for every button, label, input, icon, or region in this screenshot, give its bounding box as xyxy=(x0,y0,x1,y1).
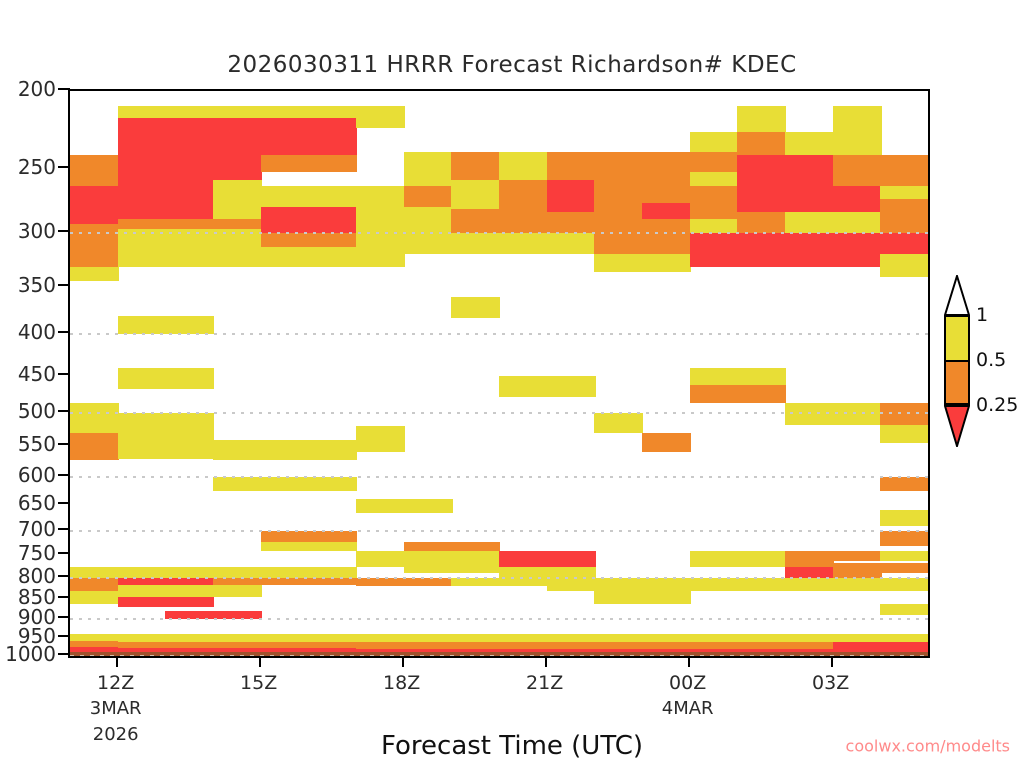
heatmap-cell xyxy=(118,316,167,334)
heatmap-cell xyxy=(118,118,167,219)
heatmap-cell xyxy=(690,368,739,385)
heatmap-cell xyxy=(118,585,167,597)
heatmap-cell xyxy=(499,642,548,649)
colorbar-top-arrow xyxy=(944,275,970,315)
x-tick-label: 00Z xyxy=(669,672,706,694)
heatmap-cell xyxy=(499,578,548,587)
heatmap-cell xyxy=(451,578,500,587)
heatmap-cell xyxy=(165,106,214,118)
heatmap-cell xyxy=(785,403,834,425)
heatmap-cell xyxy=(261,186,310,207)
heatmap-cell xyxy=(404,233,453,253)
heatmap-cell xyxy=(118,368,167,390)
y-tick-label: 400 xyxy=(0,320,56,344)
heatmap-cell xyxy=(165,634,214,642)
heatmap-cell xyxy=(356,499,405,512)
heatmap-cell xyxy=(594,634,643,642)
heatmap-cell xyxy=(165,219,214,229)
heatmap-cell xyxy=(118,229,167,267)
y-tick xyxy=(58,166,70,168)
heatmap-cell xyxy=(356,634,405,642)
heatmap-cell xyxy=(213,106,262,118)
heatmap-cell xyxy=(356,229,405,267)
heatmap-cell xyxy=(213,219,262,229)
heatmap-cell xyxy=(404,642,453,649)
heatmap-cell xyxy=(690,578,739,592)
colorbar-label: 1 xyxy=(976,304,988,326)
heatmap-cell xyxy=(70,186,119,224)
heatmap-cell xyxy=(642,203,691,219)
heatmap-cell xyxy=(165,413,214,459)
heatmap-cell xyxy=(690,186,739,219)
gridline-700 xyxy=(70,530,928,532)
plot-area xyxy=(68,89,930,658)
heatmap-cell xyxy=(213,634,262,642)
heatmap-cell xyxy=(308,542,357,552)
heatmap-cell xyxy=(451,542,500,552)
heatmap-cell xyxy=(833,551,882,560)
heatmap-cell xyxy=(690,152,739,172)
gridline-600 xyxy=(70,476,928,478)
heatmap-cell xyxy=(261,578,310,586)
y-tick xyxy=(58,528,70,530)
heatmap-cell xyxy=(451,634,500,642)
heatmap-cell xyxy=(165,368,214,390)
heatmap-cell xyxy=(308,531,357,542)
heatmap-cell xyxy=(404,542,453,552)
heatmap-cell xyxy=(547,212,596,234)
heatmap-cell xyxy=(118,219,167,229)
heatmap-cell xyxy=(547,578,596,592)
heatmap-cell xyxy=(833,233,882,266)
heatmap-cell xyxy=(70,224,119,267)
heatmap-cell xyxy=(165,585,214,597)
heatmap-cell xyxy=(737,132,786,155)
heatmap-cell xyxy=(356,642,405,649)
heatmap-cell xyxy=(547,233,596,253)
heatmap-cell xyxy=(451,551,500,573)
heatmap-cell xyxy=(547,642,596,649)
heatmap-cell xyxy=(642,634,691,642)
y-tick xyxy=(58,410,70,412)
heatmap-cell xyxy=(594,591,643,603)
heatmap-cell xyxy=(594,254,643,272)
y-tick xyxy=(58,575,70,577)
x-tick xyxy=(831,658,833,667)
heatmap-cell xyxy=(356,551,405,566)
y-tick xyxy=(58,373,70,375)
heatmap-cell xyxy=(690,233,739,266)
y-tick-label: 300 xyxy=(0,219,56,243)
heatmap-cell xyxy=(785,212,834,234)
heatmap-cell xyxy=(690,172,739,186)
heatmap-cell xyxy=(880,510,929,526)
heatmap-cell xyxy=(737,551,786,566)
colorbar-label: 0.5 xyxy=(976,349,1006,371)
heatmap-cell xyxy=(213,155,262,180)
heatmap-cell xyxy=(833,563,882,577)
x-tick-label: 21Z xyxy=(526,672,563,694)
gridline-800 xyxy=(70,577,928,579)
heatmap-cell xyxy=(642,219,691,254)
heatmap-cell xyxy=(642,591,691,603)
heatmap-cell xyxy=(785,155,834,212)
y-tick-label: 600 xyxy=(0,463,56,487)
heatmap-cell xyxy=(70,403,119,433)
heatmap-cell xyxy=(118,597,167,607)
heatmap-cell xyxy=(213,180,262,219)
y-tick-label: 250 xyxy=(0,155,56,179)
heatmap-cell xyxy=(356,186,405,229)
heatmap-cell xyxy=(547,551,596,566)
heatmap-cell xyxy=(308,233,357,247)
heatmap-cell xyxy=(737,155,786,212)
heatmap-cell xyxy=(118,634,167,642)
x-tick xyxy=(545,658,547,667)
heatmap-cell xyxy=(404,152,453,186)
x-tick xyxy=(259,658,261,667)
y-tick xyxy=(58,552,70,554)
heatmap-cell xyxy=(261,155,310,172)
heatmap-cell xyxy=(308,186,357,207)
heatmap-cell xyxy=(737,233,786,266)
heatmap-cell xyxy=(165,578,214,586)
heatmap-cell xyxy=(451,152,500,180)
heatmap-cell xyxy=(690,385,739,404)
heatmap-cell xyxy=(785,551,834,566)
heatmap-cell xyxy=(308,155,357,172)
heatmap-cell xyxy=(451,209,500,233)
heatmap-cell xyxy=(880,604,929,615)
heatmap-cell xyxy=(356,106,405,127)
heatmap-cell xyxy=(594,152,643,180)
heatmap-cell xyxy=(833,578,882,592)
heatmap-cell xyxy=(833,186,882,212)
heatmap-cell xyxy=(70,155,119,186)
heatmap-cell xyxy=(404,634,453,642)
heatmap-cell xyxy=(833,212,882,234)
heatmap-cell xyxy=(594,578,643,592)
heatmap-cell xyxy=(785,642,834,649)
heatmap-cell xyxy=(451,233,500,253)
heatmap-cell xyxy=(356,426,405,452)
heatmap-cell xyxy=(261,247,310,267)
heatmap-cell xyxy=(404,207,453,234)
heatmap-cell xyxy=(642,433,691,452)
heatmap-cell xyxy=(690,219,739,233)
heatmap-cell xyxy=(642,642,691,649)
heatmap-cell xyxy=(308,207,357,234)
heatmap-cell xyxy=(499,551,548,566)
heatmap-cell xyxy=(451,180,500,209)
heatmap-cell xyxy=(404,551,453,573)
heatmap-cell xyxy=(261,118,310,155)
heatmap-cell xyxy=(690,132,739,152)
x-tick-label: 18Z xyxy=(383,672,420,694)
heatmap-cell xyxy=(404,499,453,512)
y-tick xyxy=(58,502,70,504)
heatmap-cell xyxy=(547,152,596,180)
heatmap-cell xyxy=(690,642,739,649)
heatmap-cell xyxy=(213,578,262,586)
heatmap-cell xyxy=(880,233,929,253)
y-tick-label: 200 xyxy=(0,77,56,101)
heatmap-cell xyxy=(642,578,691,592)
heatmap-cell xyxy=(833,106,882,155)
heatmap-cell xyxy=(594,180,643,233)
x-tick-label: 03Z xyxy=(812,672,849,694)
heatmap-cell xyxy=(737,578,786,592)
heatmap-cell xyxy=(308,247,357,267)
heatmap-cell xyxy=(308,634,357,642)
heatmap-cell xyxy=(451,297,500,318)
y-tick xyxy=(58,284,70,286)
heatmap-cell xyxy=(70,634,119,641)
heatmap-cell xyxy=(308,578,357,586)
heatmap-cell xyxy=(880,403,929,425)
gridline-900 xyxy=(70,618,928,620)
heatmap-cell xyxy=(880,477,929,491)
heatmap-cell xyxy=(213,229,262,267)
x-tick-label: 15Z xyxy=(240,672,277,694)
heatmap-cell xyxy=(70,591,119,603)
heatmap-cell xyxy=(261,233,310,247)
x-tick xyxy=(688,658,690,667)
heatmap-cell xyxy=(308,118,357,155)
heatmap-cell xyxy=(642,180,691,202)
heatmap-cell xyxy=(737,634,786,642)
heatmap-cell xyxy=(499,376,548,397)
x-tick-date-label: 4MAR xyxy=(662,698,714,719)
heatmap-cell xyxy=(165,316,214,334)
heatmap-cell xyxy=(70,433,119,460)
heatmap-cell xyxy=(737,642,786,649)
heatmap-cell xyxy=(785,634,834,642)
heatmap-cell xyxy=(785,578,834,592)
heatmap-cells xyxy=(70,91,928,656)
terrain-hatch xyxy=(70,655,928,658)
colorbar-label: 0.25 xyxy=(976,394,1018,416)
colorbar[interactable]: 10.50.25 xyxy=(944,315,970,449)
x-tick xyxy=(116,658,118,667)
heatmap-cell xyxy=(594,413,643,433)
heatmap-cell xyxy=(737,106,786,132)
heatmap-cell xyxy=(213,440,262,460)
heatmap-cell xyxy=(880,254,929,277)
heatmap-cell xyxy=(356,578,405,587)
heatmap-cell xyxy=(308,477,357,491)
heatmap-cell xyxy=(213,477,262,491)
heatmap-cell xyxy=(833,403,882,425)
heatmap-cell xyxy=(880,199,929,233)
heatmap-cell xyxy=(308,440,357,460)
x-tick xyxy=(402,658,404,667)
y-tick xyxy=(58,653,70,655)
heatmap-cell xyxy=(118,578,167,586)
heatmap-cell xyxy=(880,563,929,573)
heatmap-cell xyxy=(833,634,882,642)
y-tick-label: 750 xyxy=(0,541,56,565)
heatmap-cell xyxy=(690,551,739,566)
heatmap-cell xyxy=(499,152,548,180)
heatmap-cell xyxy=(499,233,548,253)
colorbar-bottom-arrow xyxy=(944,405,970,447)
heatmap-cell xyxy=(451,642,500,649)
heatmap-cell xyxy=(118,106,167,118)
heatmap-cell xyxy=(261,531,310,542)
heatmap-cell xyxy=(833,642,882,649)
heatmap-cell xyxy=(690,634,739,642)
x-tick-label: 12Z xyxy=(97,672,134,694)
heatmap-cell xyxy=(737,368,786,385)
heatmap-cell xyxy=(547,376,596,397)
heatmap-cell xyxy=(880,155,929,186)
y-tick-label: 700 xyxy=(0,517,56,541)
colorbar-segment xyxy=(944,360,970,405)
heatmap-cell xyxy=(404,578,453,587)
y-tick-label: 500 xyxy=(0,399,56,423)
y-tick xyxy=(58,88,70,90)
y-tick xyxy=(58,443,70,445)
y-tick xyxy=(58,635,70,637)
y-tick-label: 350 xyxy=(0,273,56,297)
chart-canvas: 2026030311 HRRR Forecast Richardson# KDE… xyxy=(0,0,1024,768)
y-tick xyxy=(58,331,70,333)
chart-title: 2026030311 HRRR Forecast Richardson# KDE… xyxy=(0,52,1024,78)
y-tick-label: 550 xyxy=(0,432,56,456)
heatmap-cell xyxy=(261,106,310,118)
heatmap-cell xyxy=(261,207,310,234)
colorbar-segment xyxy=(944,315,970,360)
heatmap-cell xyxy=(308,106,357,118)
heatmap-cell xyxy=(785,132,834,155)
heatmap-cell xyxy=(165,229,214,267)
heatmap-cell xyxy=(165,118,214,219)
heatmap-cell xyxy=(880,634,929,642)
heatmap-cell xyxy=(213,585,262,597)
heatmap-cell xyxy=(594,642,643,649)
y-tick-label: 1000 xyxy=(0,642,56,666)
y-tick xyxy=(58,596,70,598)
gridline-300 xyxy=(70,232,928,234)
heatmap-cell xyxy=(261,634,310,642)
heatmap-cell xyxy=(547,180,596,211)
y-tick xyxy=(58,616,70,618)
heatmap-cell xyxy=(261,542,310,552)
heatmap-cell xyxy=(499,634,548,642)
y-tick-label: 450 xyxy=(0,362,56,386)
heatmap-cell xyxy=(70,267,119,282)
heatmap-cell xyxy=(785,233,834,266)
heatmap-cell xyxy=(547,634,596,642)
heatmap-cell xyxy=(880,551,929,560)
heatmap-cell xyxy=(880,531,929,546)
y-tick xyxy=(58,230,70,232)
heatmap-cell xyxy=(594,233,643,253)
heatmap-cell xyxy=(642,254,691,272)
heatmap-cell xyxy=(880,578,929,592)
heatmap-cell xyxy=(499,180,548,209)
heatmap-cell xyxy=(261,440,310,460)
heatmap-cell xyxy=(404,186,453,207)
gridline-500 xyxy=(70,412,928,414)
heatmap-cell xyxy=(737,212,786,234)
heatmap-cell xyxy=(118,413,167,459)
y-tick-label: 650 xyxy=(0,491,56,515)
heatmap-cell xyxy=(880,425,929,443)
heatmap-cell xyxy=(165,597,214,607)
heatmap-cell xyxy=(737,385,786,404)
heatmap-cell xyxy=(642,152,691,180)
heatmap-cell xyxy=(213,118,262,155)
heatmap-cell xyxy=(880,186,929,199)
watermark-label: coolwx.com/modelts xyxy=(846,737,1010,756)
heatmap-cell xyxy=(261,477,310,491)
heatmap-cell xyxy=(833,155,882,186)
heatmap-cell xyxy=(70,578,119,592)
x-tick-date-label: 3MAR xyxy=(90,698,142,719)
y-tick xyxy=(58,474,70,476)
heatmap-cell xyxy=(499,209,548,233)
gridline-400 xyxy=(70,333,928,335)
